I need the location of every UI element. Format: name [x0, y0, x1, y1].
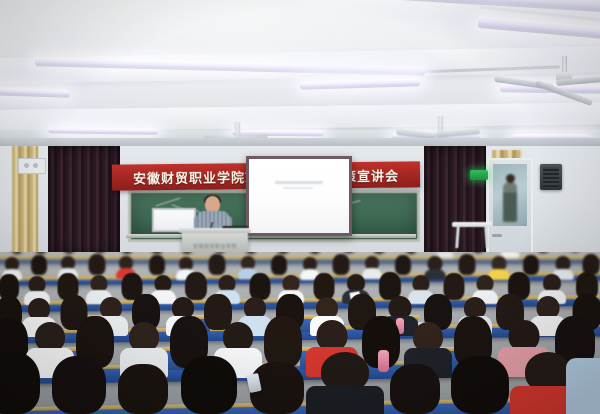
dark-maroon-curtain [48, 146, 120, 256]
ceiling-fan-icon [516, 56, 600, 98]
outlet-socket [33, 163, 38, 168]
door-handle [492, 234, 502, 237]
outlet-socket [24, 163, 29, 168]
table-leg [455, 227, 459, 248]
audience-member-foreground [442, 356, 518, 414]
wall-mounted-loudspeaker [540, 164, 562, 190]
fluorescent-tube-light-icon [0, 86, 70, 98]
audience-member-foreground [44, 356, 114, 414]
person-behind-door [503, 182, 517, 222]
audience-member-foreground [110, 364, 176, 414]
electrical-outlet-panel [18, 158, 46, 174]
audience-member-foreground [566, 358, 600, 414]
ceiling [0, 0, 600, 150]
audience-member [146, 255, 168, 277]
projected-content-faint [283, 187, 313, 189]
audience-seating-area [0, 252, 600, 414]
fluorescent-tube-light-icon [300, 78, 420, 89]
fluorescent-tube-light-icon [300, 0, 600, 22]
audience-member [28, 255, 50, 277]
wall-trim [0, 138, 600, 146]
glass-panel-door [487, 158, 533, 266]
podium-top [179, 228, 251, 233]
table-leg [484, 227, 488, 248]
audience-member-foreground [0, 352, 48, 414]
fluorescent-tube-light-icon [478, 16, 600, 40]
lecture-hall-photograph: 安徽财贸职业学院就业创业劳动政策宣讲会 安徽财贸职业学院 [0, 0, 600, 414]
audience-member-foreground [382, 364, 448, 414]
emergency-exit-sign-icon [470, 170, 488, 180]
white-side-table [452, 222, 492, 248]
door-glass-panel [493, 164, 527, 226]
projection-screen-surface [249, 159, 349, 233]
audience-member-foreground [172, 356, 246, 414]
projected-content-faint [275, 181, 323, 184]
projection-screen [246, 156, 352, 236]
audience-member [86, 254, 108, 277]
speaker-grill [543, 167, 559, 187]
audience-member-foreground [306, 352, 384, 414]
podium-front-text: 安徽财贸职业学院 [192, 243, 238, 249]
